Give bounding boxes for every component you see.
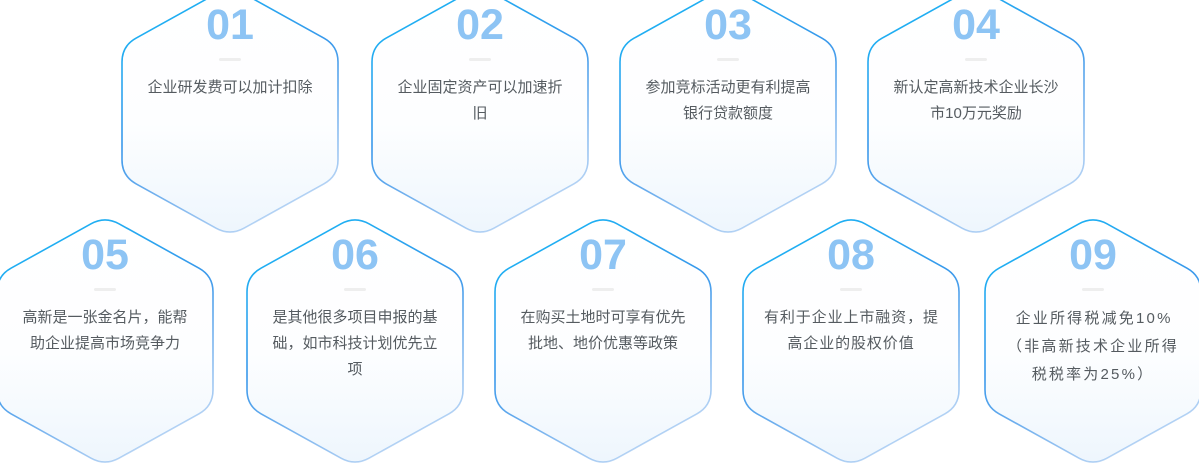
hexagon-divider (94, 288, 116, 291)
hexagon-content: 06是其他很多项目申报的基础，如市科技计划优先立项 (245, 214, 465, 468)
hexagon-content: 05高新是一张金名片，能帮助企业提高市场竞争力 (0, 214, 215, 468)
hexagon-card-06[interactable]: 06是其他很多项目申报的基础，如市科技计划优先立项 (245, 214, 465, 468)
hexagon-divider (1082, 288, 1104, 291)
hexagon-text: 是其他很多项目申报的基础，如市科技计划优先立项 (267, 305, 443, 383)
hexagon-text: 企业所得税减免10%（非高新技术企业所得税税率为25%） (1000, 305, 1186, 389)
hexagon-divider (344, 288, 366, 291)
hexagon-text: 参加竞标活动更有利提高银行贷款额度 (640, 75, 816, 127)
hexagon-card-09[interactable]: 09企业所得税减免10%（非高新技术企业所得税税率为25%） (983, 214, 1199, 468)
hexagon-card-08[interactable]: 08有利于企业上市融资，提高企业的股权价值 (741, 214, 961, 468)
hexagon-number: 01 (206, 4, 254, 47)
hexagon-divider (840, 288, 862, 291)
hexagon-card-03[interactable]: 03参加竞标活动更有利提高银行贷款额度 (618, 0, 838, 238)
hexagon-divider (592, 288, 614, 291)
hexagon-content: 01企业研发费可以加计扣除 (120, 0, 340, 238)
hexagon-number: 08 (827, 234, 875, 277)
hexagon-number: 05 (81, 234, 129, 277)
hexagon-number: 04 (952, 4, 1000, 47)
hexagon-number: 03 (704, 4, 752, 47)
hexagon-divider (717, 58, 739, 61)
hexagon-card-07[interactable]: 07在购买土地时可享有优先批地、地价优惠等政策 (493, 214, 713, 468)
hexagon-number: 06 (331, 234, 379, 277)
hexagon-content: 04新认定高新技术企业长沙市10万元奖励 (866, 0, 1086, 238)
hexagon-infographic: 01企业研发费可以加计扣除02企业固定资产可以加速折旧03参加竞标活动更有利提高… (0, 0, 1199, 454)
hexagon-content: 09企业所得税减免10%（非高新技术企业所得税税率为25%） (983, 214, 1199, 468)
hexagon-number: 07 (579, 234, 627, 277)
hexagon-card-02[interactable]: 02企业固定资产可以加速折旧 (370, 0, 590, 238)
hexagon-card-04[interactable]: 04新认定高新技术企业长沙市10万元奖励 (866, 0, 1086, 238)
hexagon-text: 企业固定资产可以加速折旧 (392, 75, 568, 127)
hexagon-card-05[interactable]: 05高新是一张金名片，能帮助企业提高市场竞争力 (0, 214, 215, 468)
hexagon-divider (965, 58, 987, 61)
hexagon-text: 在购买土地时可享有优先批地、地价优惠等政策 (515, 305, 691, 357)
hexagon-text: 新认定高新技术企业长沙市10万元奖励 (888, 75, 1064, 127)
hexagon-number: 02 (456, 4, 504, 47)
hexagon-divider (219, 58, 241, 61)
hexagon-text: 有利于企业上市融资，提高企业的股权价值 (763, 305, 939, 357)
hexagon-content: 07在购买土地时可享有优先批地、地价优惠等政策 (493, 214, 713, 468)
hexagon-content: 08有利于企业上市融资，提高企业的股权价值 (741, 214, 961, 468)
hexagon-text: 高新是一张金名片，能帮助企业提高市场竞争力 (17, 305, 193, 357)
hexagon-card-01[interactable]: 01企业研发费可以加计扣除 (120, 0, 340, 238)
hexagon-text: 企业研发费可以加计扣除 (142, 75, 318, 101)
hexagon-number: 09 (1069, 234, 1117, 277)
hexagon-content: 03参加竞标活动更有利提高银行贷款额度 (618, 0, 838, 238)
hexagon-divider (469, 58, 491, 61)
hexagon-content: 02企业固定资产可以加速折旧 (370, 0, 590, 238)
